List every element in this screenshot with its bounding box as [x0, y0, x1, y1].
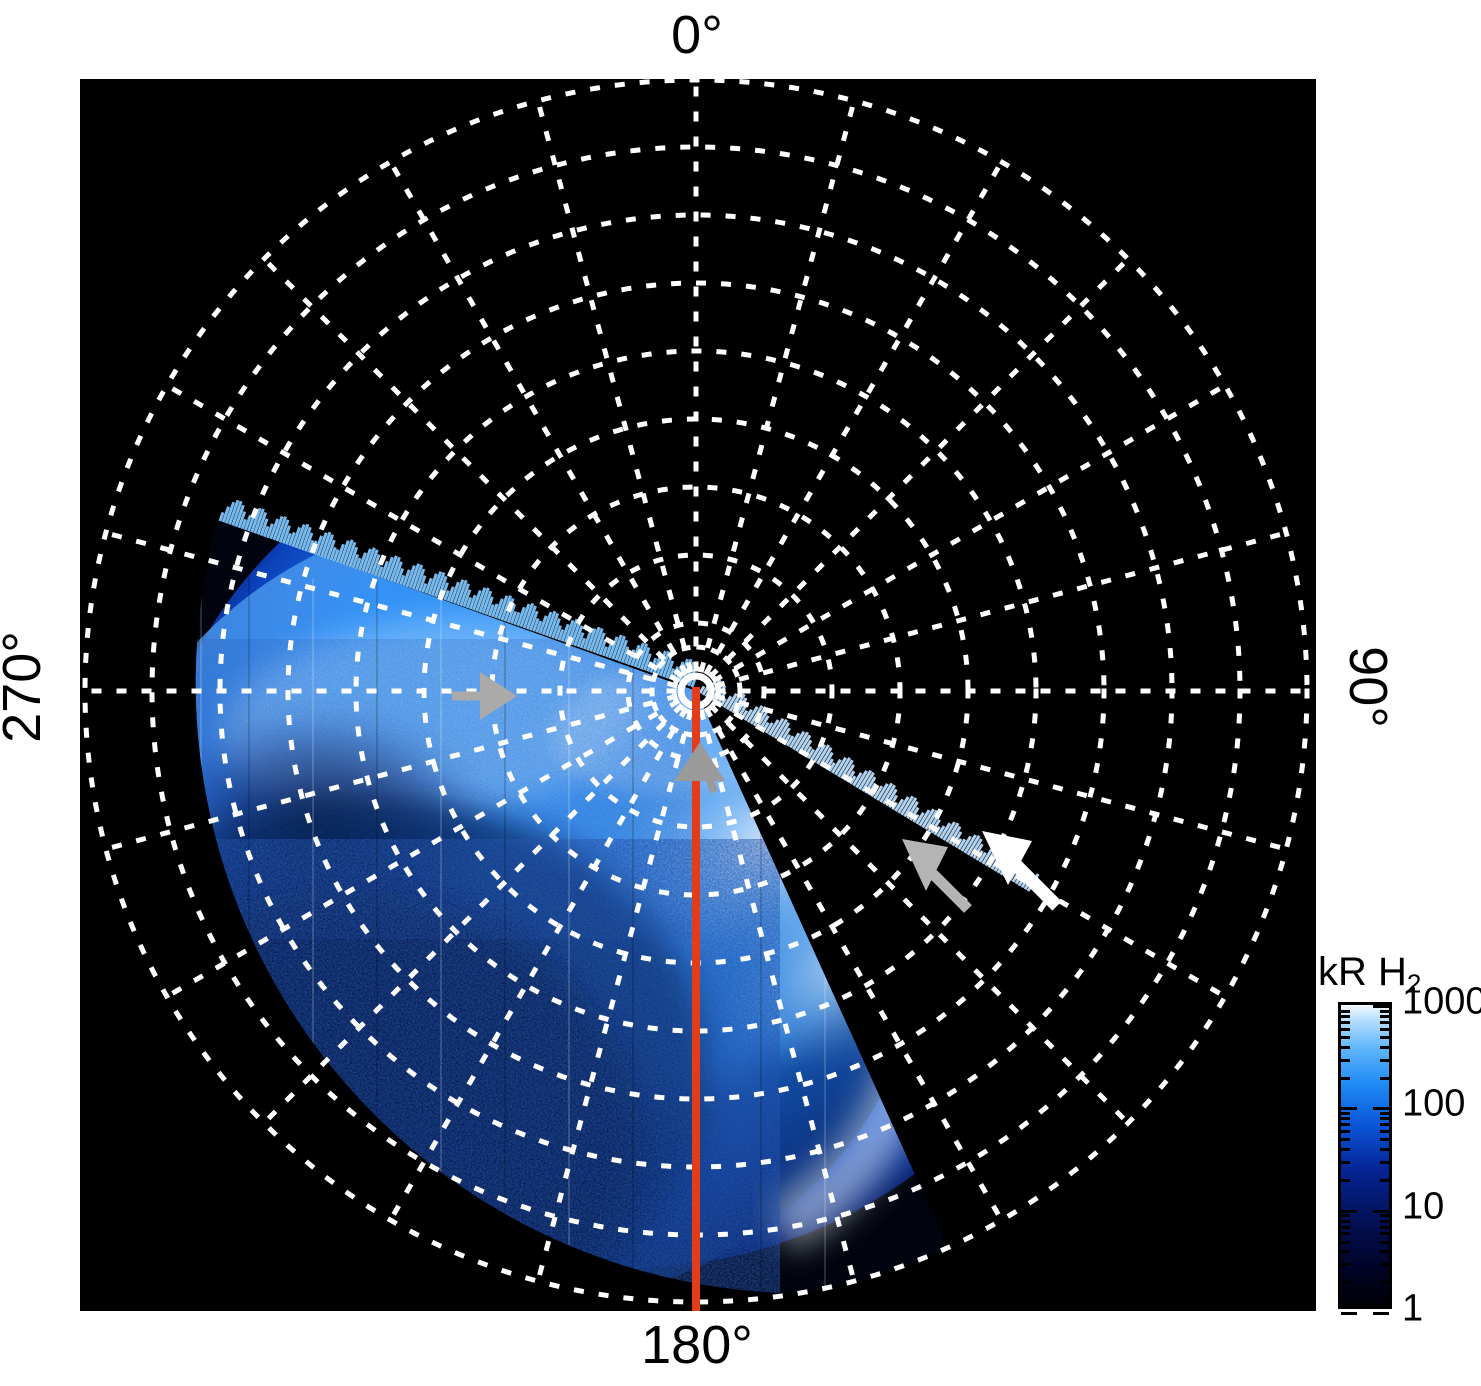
colorbar-title-main: kR H — [1318, 950, 1407, 994]
angle-label-90: 90° — [1341, 607, 1395, 767]
angle-label-0: 0° — [0, 8, 1394, 62]
polar-svg — [80, 79, 1316, 1311]
angle-label-180: 180° — [0, 1318, 1394, 1372]
angle-label-270: 270° — [0, 607, 49, 767]
colorbar-label-100: 100 — [1402, 1083, 1465, 1126]
colorbar-gradient — [1341, 1005, 1389, 1306]
figure-root: 0° 180° 270° 90° — [0, 0, 1481, 1386]
gray-arrow-right-icon — [902, 839, 968, 909]
colorbar-label-10: 10 — [1402, 1185, 1444, 1228]
colorbar: kR H2 1000100101 — [1318, 950, 1481, 1330]
colorbar-box — [1338, 1002, 1392, 1309]
polar-plot-panel — [80, 79, 1316, 1311]
polar-projection-image — [80, 79, 1316, 1311]
colorbar-label-1000: 1000 — [1402, 981, 1481, 1024]
colorbar-label-1: 1 — [1402, 1288, 1423, 1331]
